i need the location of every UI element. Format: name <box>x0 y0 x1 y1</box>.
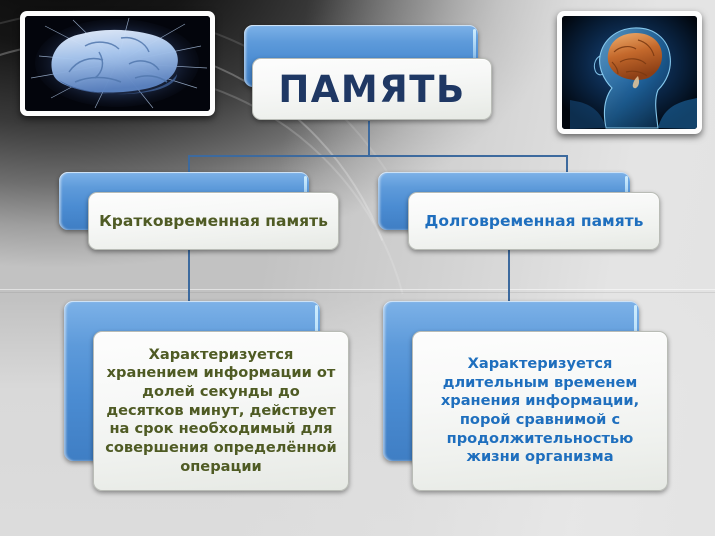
node-long-term-memory-panel: Долговременная память <box>408 192 660 250</box>
node-memory-root[interactable]: ПАМЯТЬ <box>244 25 494 121</box>
node-long-term-description-text: Характеризуется длительным временем хран… <box>413 355 667 467</box>
human-head-artwork <box>562 16 697 129</box>
blue-brain-artwork <box>25 16 210 111</box>
node-short-term-memory[interactable]: Кратковременная память <box>59 172 339 250</box>
node-short-term-memory-label: Кратковременная память <box>93 212 334 231</box>
slide-canvas: ПАМЯТЬ Кратковременная память Долговреме… <box>0 0 715 536</box>
head-profile-icon <box>562 16 697 129</box>
connector-root-down <box>368 121 370 156</box>
node-long-term-description[interactable]: Характеризуется длительным временем хран… <box>383 301 668 491</box>
node-short-term-description-text: Характеризуется хранением информации от … <box>94 346 348 477</box>
connector-long-to-desc <box>508 250 510 303</box>
human-head-brain-photo-inner <box>562 16 697 129</box>
node-short-term-description[interactable]: Характеризуется хранением информации от … <box>64 301 349 491</box>
node-memory-root-panel: ПАМЯТЬ <box>252 58 492 120</box>
node-long-term-memory[interactable]: Долговременная память <box>378 172 660 250</box>
connector-horizontal-bar <box>188 155 568 157</box>
node-long-term-memory-label: Долговременная память <box>419 212 650 231</box>
connector-short-to-desc <box>188 250 190 303</box>
brain-icon <box>25 16 210 111</box>
blue-brain-photo-inner <box>25 16 210 111</box>
node-long-term-description-panel: Характеризуется длительным временем хран… <box>412 331 668 491</box>
human-head-brain-photo <box>557 11 702 134</box>
blue-brain-photo <box>20 11 215 116</box>
node-short-term-description-panel: Характеризуется хранением информации от … <box>93 331 349 491</box>
page-title: ПАМЯТЬ <box>278 71 465 108</box>
node-short-term-memory-panel: Кратковременная память <box>88 192 339 250</box>
background-divider-shadow <box>0 292 715 293</box>
background-divider-line <box>0 289 715 290</box>
